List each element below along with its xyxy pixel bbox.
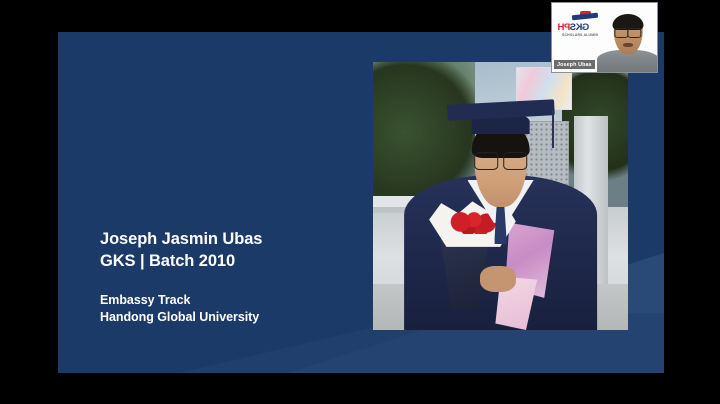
eyeglasses-icon	[614, 28, 641, 35]
logo-word-main: GKS	[570, 22, 589, 33]
speaker-name: Joseph Jasmin Ubas	[100, 228, 262, 250]
participant-name-label: Joseph Ubas	[557, 62, 592, 68]
university-label: Handong Global University	[100, 309, 262, 326]
webcam-person	[597, 7, 658, 73]
slide-text-block: Joseph Jasmin Ubas GKS | Batch 2010 Emba…	[100, 228, 262, 327]
program-batch-line: GKS | Batch 2010	[100, 250, 262, 272]
graduation-photo	[373, 62, 628, 330]
photo-hand	[480, 266, 516, 293]
video-player-stage: Joseph Jasmin Ubas GKS | Batch 2010 Emba…	[0, 0, 720, 404]
slide-subtext-block: Embassy Track Handong Global University	[100, 292, 262, 327]
track-label: Embassy Track	[100, 292, 262, 309]
logo-word-accent: PH	[558, 22, 570, 33]
cap-board-shape	[572, 13, 598, 21]
participant-name-badge: Joseph Ubas	[554, 60, 595, 69]
webcam-thumbnail[interactable]: GKSPH SCHOLARS ALUMNI Joseph Ubas	[551, 2, 658, 73]
person-mouth	[623, 43, 633, 47]
person-hair	[613, 14, 644, 30]
presentation-slide: Joseph Jasmin Ubas GKS | Batch 2010 Emba…	[58, 32, 664, 373]
logo-tagline: SCHOLARS ALUMNI	[562, 33, 598, 37]
graduation-cap-icon	[572, 11, 598, 21]
photo-cap-tassel	[552, 110, 554, 148]
logo-wordmark: GKSPH	[558, 22, 589, 33]
eyeglasses-icon	[474, 152, 528, 168]
